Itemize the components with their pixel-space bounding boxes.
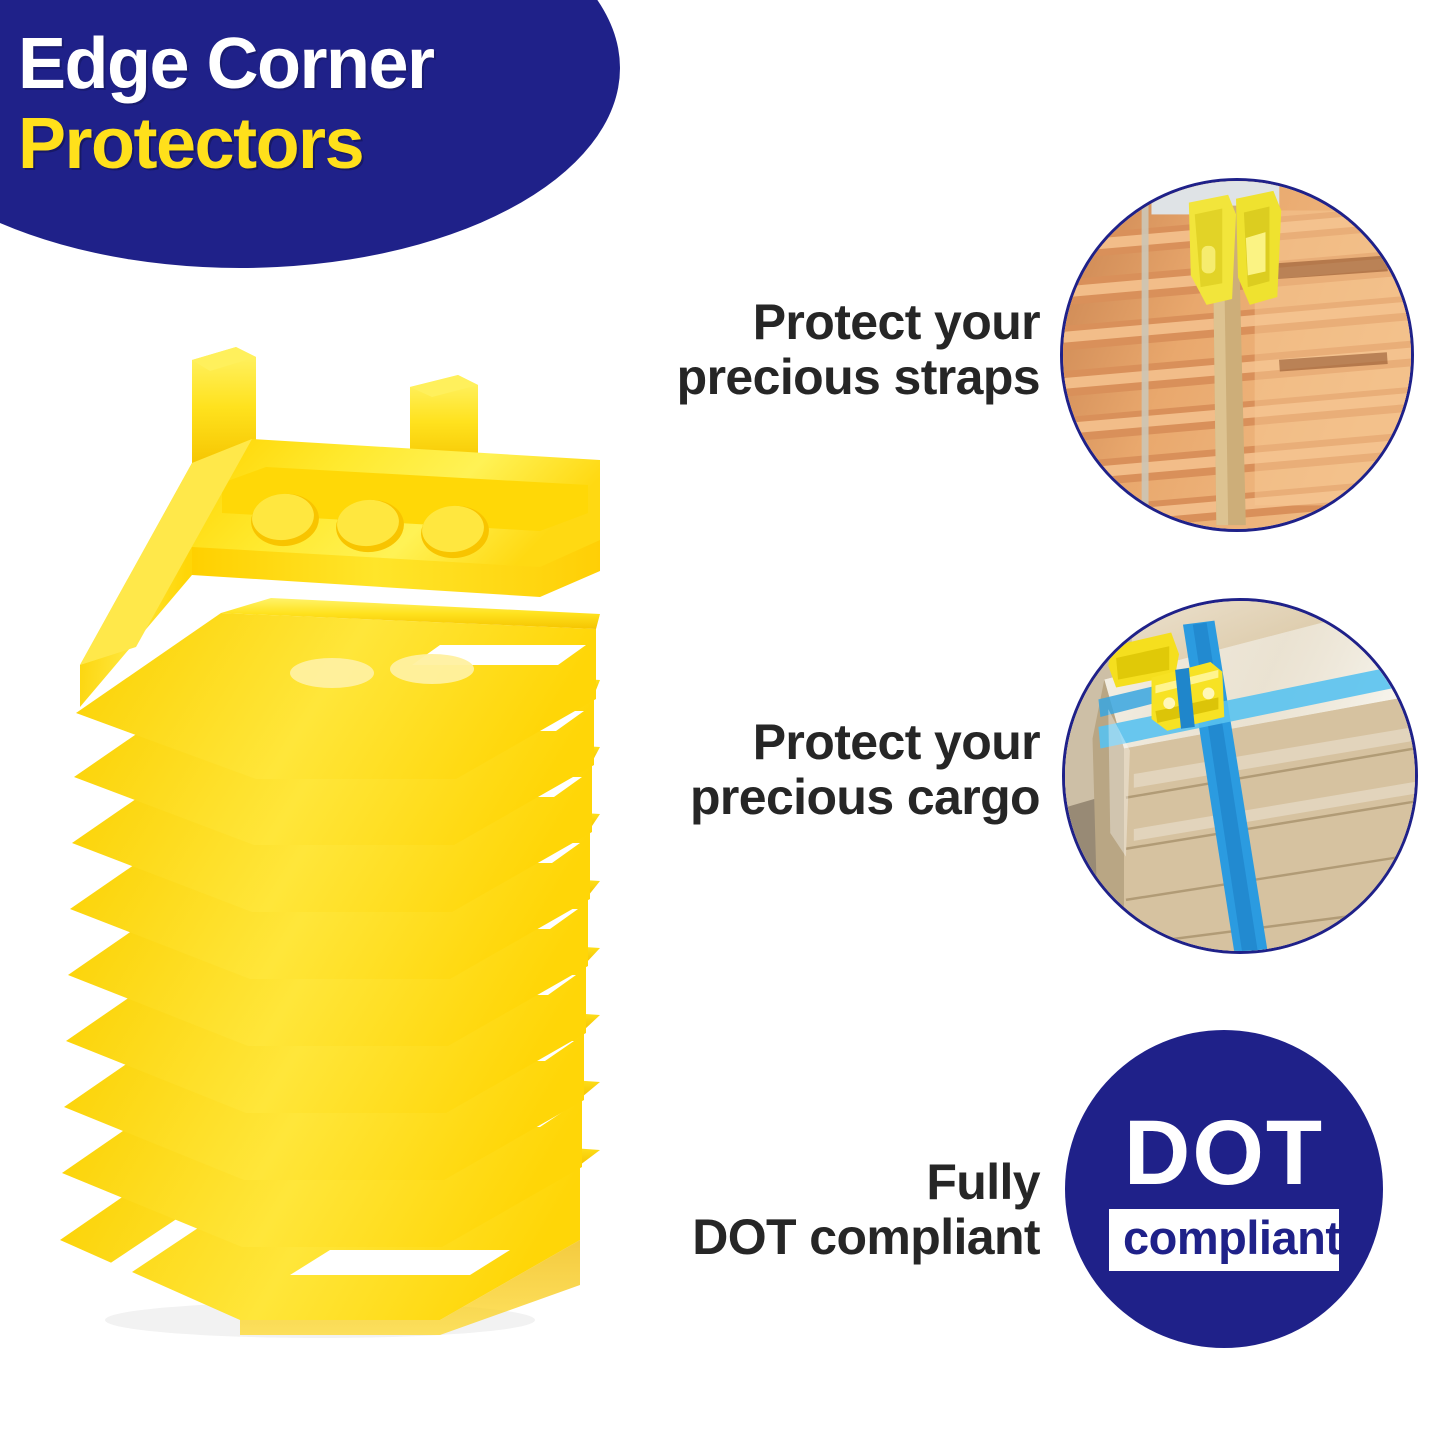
dot-badge-bar: compliant: [1109, 1209, 1339, 1270]
dot-badge-subtitle: compliant: [1123, 1213, 1325, 1262]
feature-dot-line2: DOT compliant: [520, 1210, 1040, 1265]
feature-cargo-line2: precious cargo: [520, 770, 1040, 825]
feature-label-cargo: Protect your precious cargo: [520, 715, 1040, 824]
page-title-line1: Edge Corner: [18, 28, 578, 101]
page-title: Edge Corner Protectors: [18, 28, 578, 182]
page-title-line2: Protectors: [18, 107, 578, 182]
feature-dot-line1: Fully: [520, 1155, 1040, 1210]
feature-label-straps: Protect your precious straps: [520, 295, 1040, 404]
feature-straps-line2: precious straps: [520, 350, 1040, 405]
photo-lumber-stack-with-strap: [1060, 178, 1414, 532]
product-image-corner-protector-stack: [40, 335, 600, 1350]
dot-compliant-badge: DOT compliant: [1065, 1030, 1383, 1348]
feature-cargo-line1: Protect your: [520, 715, 1040, 770]
dot-badge-title: DOT: [1124, 1107, 1324, 1199]
photo-wrapped-pallet-with-blue-straps: [1062, 598, 1418, 954]
feature-straps-line1: Protect your: [520, 295, 1040, 350]
feature-label-dot-compliant: Fully DOT compliant: [520, 1155, 1040, 1264]
